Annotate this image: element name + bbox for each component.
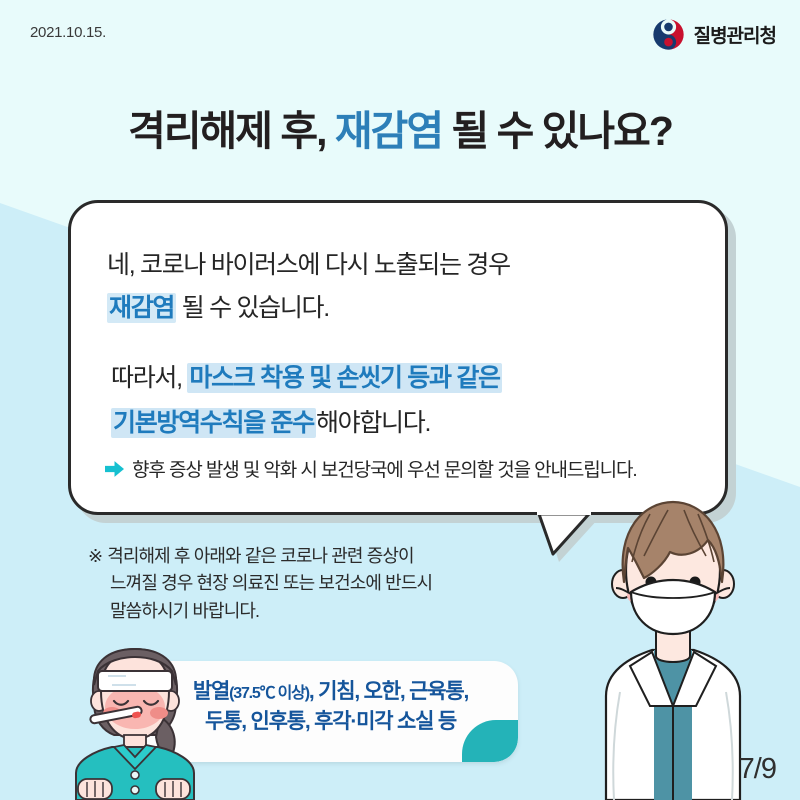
symptom-fever-threshold: (37.5℃ 이상) bbox=[229, 685, 309, 702]
page-number: 7/9 bbox=[739, 753, 776, 786]
taegeuk-logo-icon bbox=[652, 18, 685, 51]
note-line-3: 말씀하시기 바랍니다. bbox=[88, 598, 432, 625]
bubble-line-3: 따라서, 마스크 착용 및 손씻기 등과 같은 bbox=[111, 358, 502, 394]
bubble-bullet-text: 향후 증상 발생 및 악화 시 보건당국에 우선 문의할 것을 안내드립니다. bbox=[132, 455, 637, 482]
bubble-line-4: 기본방역수칙을 준수해야합니다. bbox=[111, 403, 430, 439]
publication-date: 2021.10.15. bbox=[30, 24, 106, 41]
note-line-2: 느껴질 경우 현장 의료진 또는 보건소에 반드시 bbox=[88, 570, 432, 597]
title-before: 격리해제 후, bbox=[128, 108, 335, 154]
title-highlight: 재감염 bbox=[335, 108, 442, 154]
note-block: ※격리해제 후 아래와 같은 코로나 관련 증상이 느껴질 경우 현장 의료진 … bbox=[88, 543, 432, 625]
infographic-card: 2021.10.15. 질병관리청 격리해제 후, 재감염 될 수 있나요? 네… bbox=[0, 0, 800, 800]
bubble-line-1: 네, 코로나 바이러스에 다시 노출되는 경우 bbox=[107, 245, 510, 281]
title-after: 될 수 있나요? bbox=[442, 108, 672, 154]
bubble-line-3-prefix: 따라서, bbox=[111, 364, 187, 392]
bubble-line-2-rest: 될 수 있습니다. bbox=[176, 294, 329, 322]
note-marker: ※ bbox=[88, 546, 102, 566]
bubble-line-2: 재감염 될 수 있습니다. bbox=[107, 288, 329, 324]
bubble-line-2-highlight: 재감염 bbox=[107, 293, 176, 323]
note-line-1: 격리해제 후 아래와 같은 코로나 관련 증상이 bbox=[107, 546, 413, 566]
bubble-line-4-rest: 해야합니다. bbox=[316, 409, 430, 437]
sick-patient-illustration bbox=[60, 645, 210, 800]
page-title: 격리해제 후, 재감염 될 수 있나요? bbox=[0, 97, 800, 157]
brand-logo: 질병관리청 bbox=[652, 18, 776, 51]
bubble-line-4-highlight: 기본방역수칙을 준수 bbox=[111, 408, 316, 438]
brand-name: 질병관리청 bbox=[694, 21, 776, 48]
right-arrow-icon bbox=[105, 461, 124, 477]
bubble-bullet-row: 향후 증상 발생 및 악화 시 보건당국에 우선 문의할 것을 안내드립니다. bbox=[105, 455, 637, 482]
bubble-line-3-highlight: 마스크 착용 및 손씻기 등과 같은 bbox=[187, 363, 501, 393]
speech-bubble: 네, 코로나 바이러스에 다시 노출되는 경우 재감염 될 수 있습니다. 따라… bbox=[68, 200, 728, 515]
symptom-line-1-rest: , 기침, 오한, 근육통, bbox=[309, 680, 468, 703]
